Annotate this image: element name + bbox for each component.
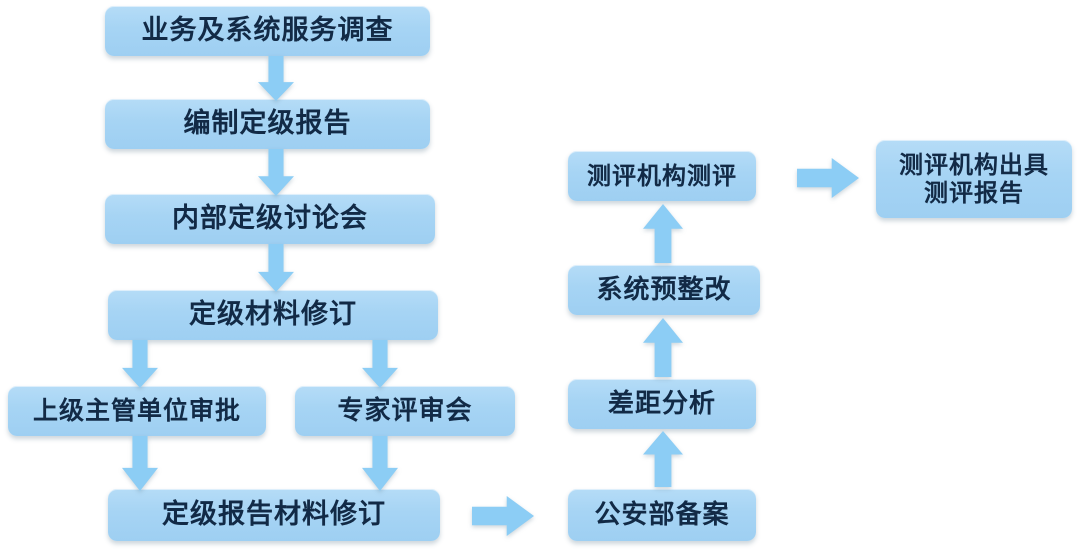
flow-node-业务及系统服务调查[interactable]: 业务及系统服务调查 (105, 6, 430, 56)
flow-node-专家评审会[interactable]: 专家评审会 (295, 386, 515, 436)
flow-node-公安部备案[interactable]: 公安部备案 (568, 489, 756, 541)
arrow-down-icon (258, 56, 294, 101)
arrow-down-icon (122, 436, 158, 491)
flow-node-测评机构出具测评报告[interactable]: 测评机构出具 测评报告 (876, 140, 1072, 218)
flow-node-定级材料修订[interactable]: 定级材料修订 (108, 290, 438, 340)
flow-node-测评机构测评[interactable]: 测评机构测评 (568, 151, 756, 201)
arrow-down-icon (362, 340, 398, 388)
flow-node-定级报告材料修订[interactable]: 定级报告材料修订 (108, 489, 440, 541)
flowchart-canvas: 业务及系统服务调查编制定级报告内部定级讨论会定级材料修订上级主管单位审批专家评审… (0, 0, 1080, 558)
arrow-right-icon (797, 158, 859, 198)
flow-node-内部定级讨论会[interactable]: 内部定级讨论会 (105, 194, 435, 244)
arrow-down-icon (258, 244, 294, 292)
flow-node-差距分析[interactable]: 差距分析 (568, 379, 756, 429)
flow-node-编制定级报告[interactable]: 编制定级报告 (105, 99, 430, 149)
arrow-right-icon (472, 496, 534, 536)
arrow-up-icon (643, 204, 683, 263)
arrow-up-icon (643, 318, 683, 377)
arrow-up-icon (643, 431, 683, 487)
flow-node-系统预整改[interactable]: 系统预整改 (568, 265, 760, 315)
arrow-down-icon (362, 436, 398, 491)
flow-node-上级主管单位审批[interactable]: 上级主管单位审批 (8, 386, 266, 436)
arrow-down-icon (258, 149, 294, 196)
arrow-down-icon (122, 340, 158, 388)
